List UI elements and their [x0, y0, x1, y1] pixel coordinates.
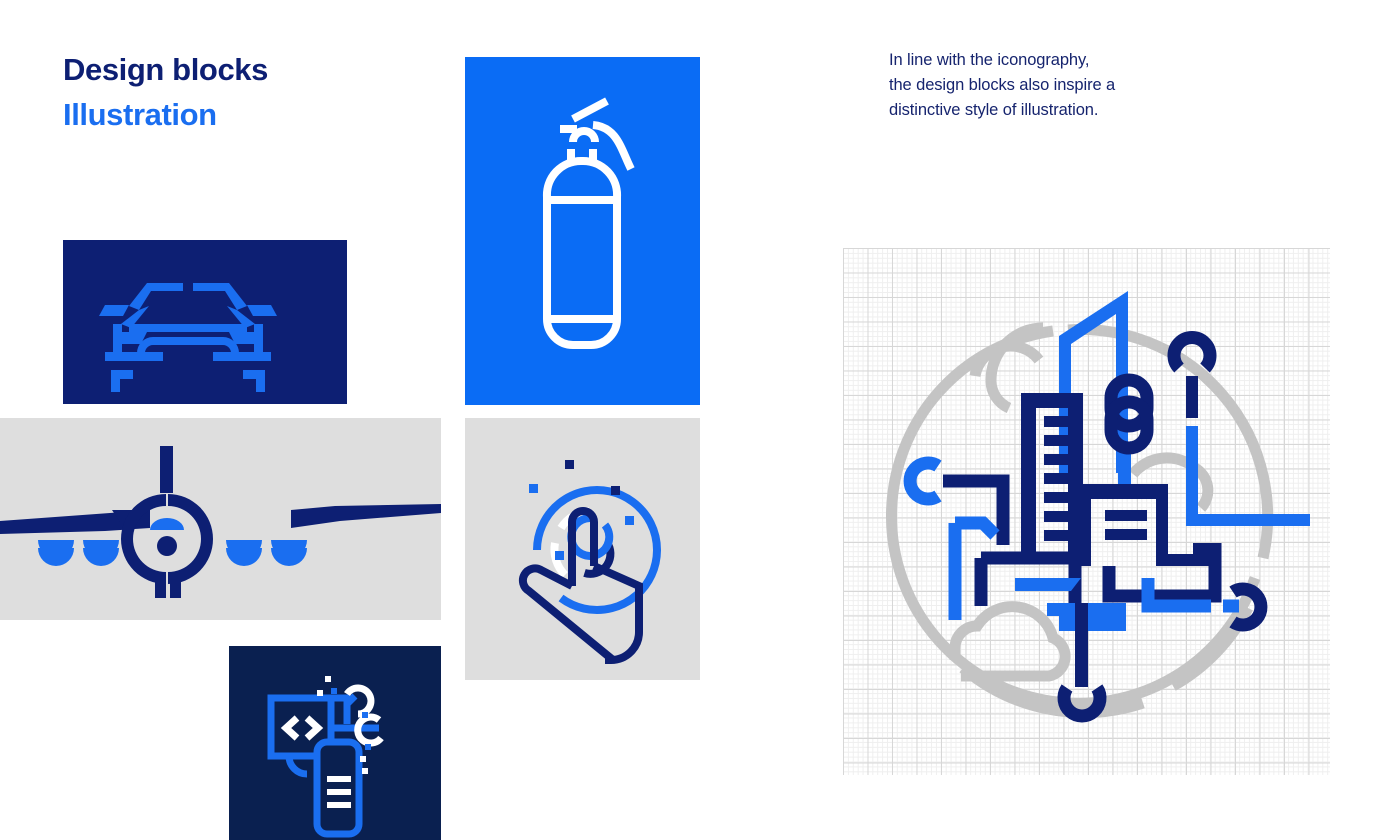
smart-city-illustration	[843, 248, 1330, 775]
page-title-group: Design blocks Illustration	[63, 48, 268, 138]
intro-line-3: distinctive style of illustration.	[889, 98, 1115, 123]
page-root: Design blocks Illustration In line with …	[0, 0, 1400, 840]
airplane-front-icon	[0, 418, 441, 620]
fire-extinguisher-icon	[465, 57, 700, 405]
intro-line-1: In line with the iconography,	[889, 48, 1115, 73]
intro-line-2: the design blocks also inspire a	[889, 73, 1115, 98]
page-title: Design blocks	[63, 48, 268, 93]
design-block-car	[63, 240, 347, 404]
design-block-airplane	[0, 418, 441, 620]
design-block-tap-gesture	[465, 418, 700, 680]
tap-gesture-icon	[465, 418, 700, 680]
car-front-icon	[63, 240, 347, 404]
mobile-code-icon	[229, 646, 441, 840]
intro-paragraph: In line with the iconography, the design…	[889, 48, 1115, 123]
page-subtitle: Illustration	[63, 93, 268, 138]
design-block-fire-extinguisher	[465, 57, 700, 405]
design-block-mobile-code	[229, 646, 441, 840]
illustration-panel	[843, 248, 1330, 775]
